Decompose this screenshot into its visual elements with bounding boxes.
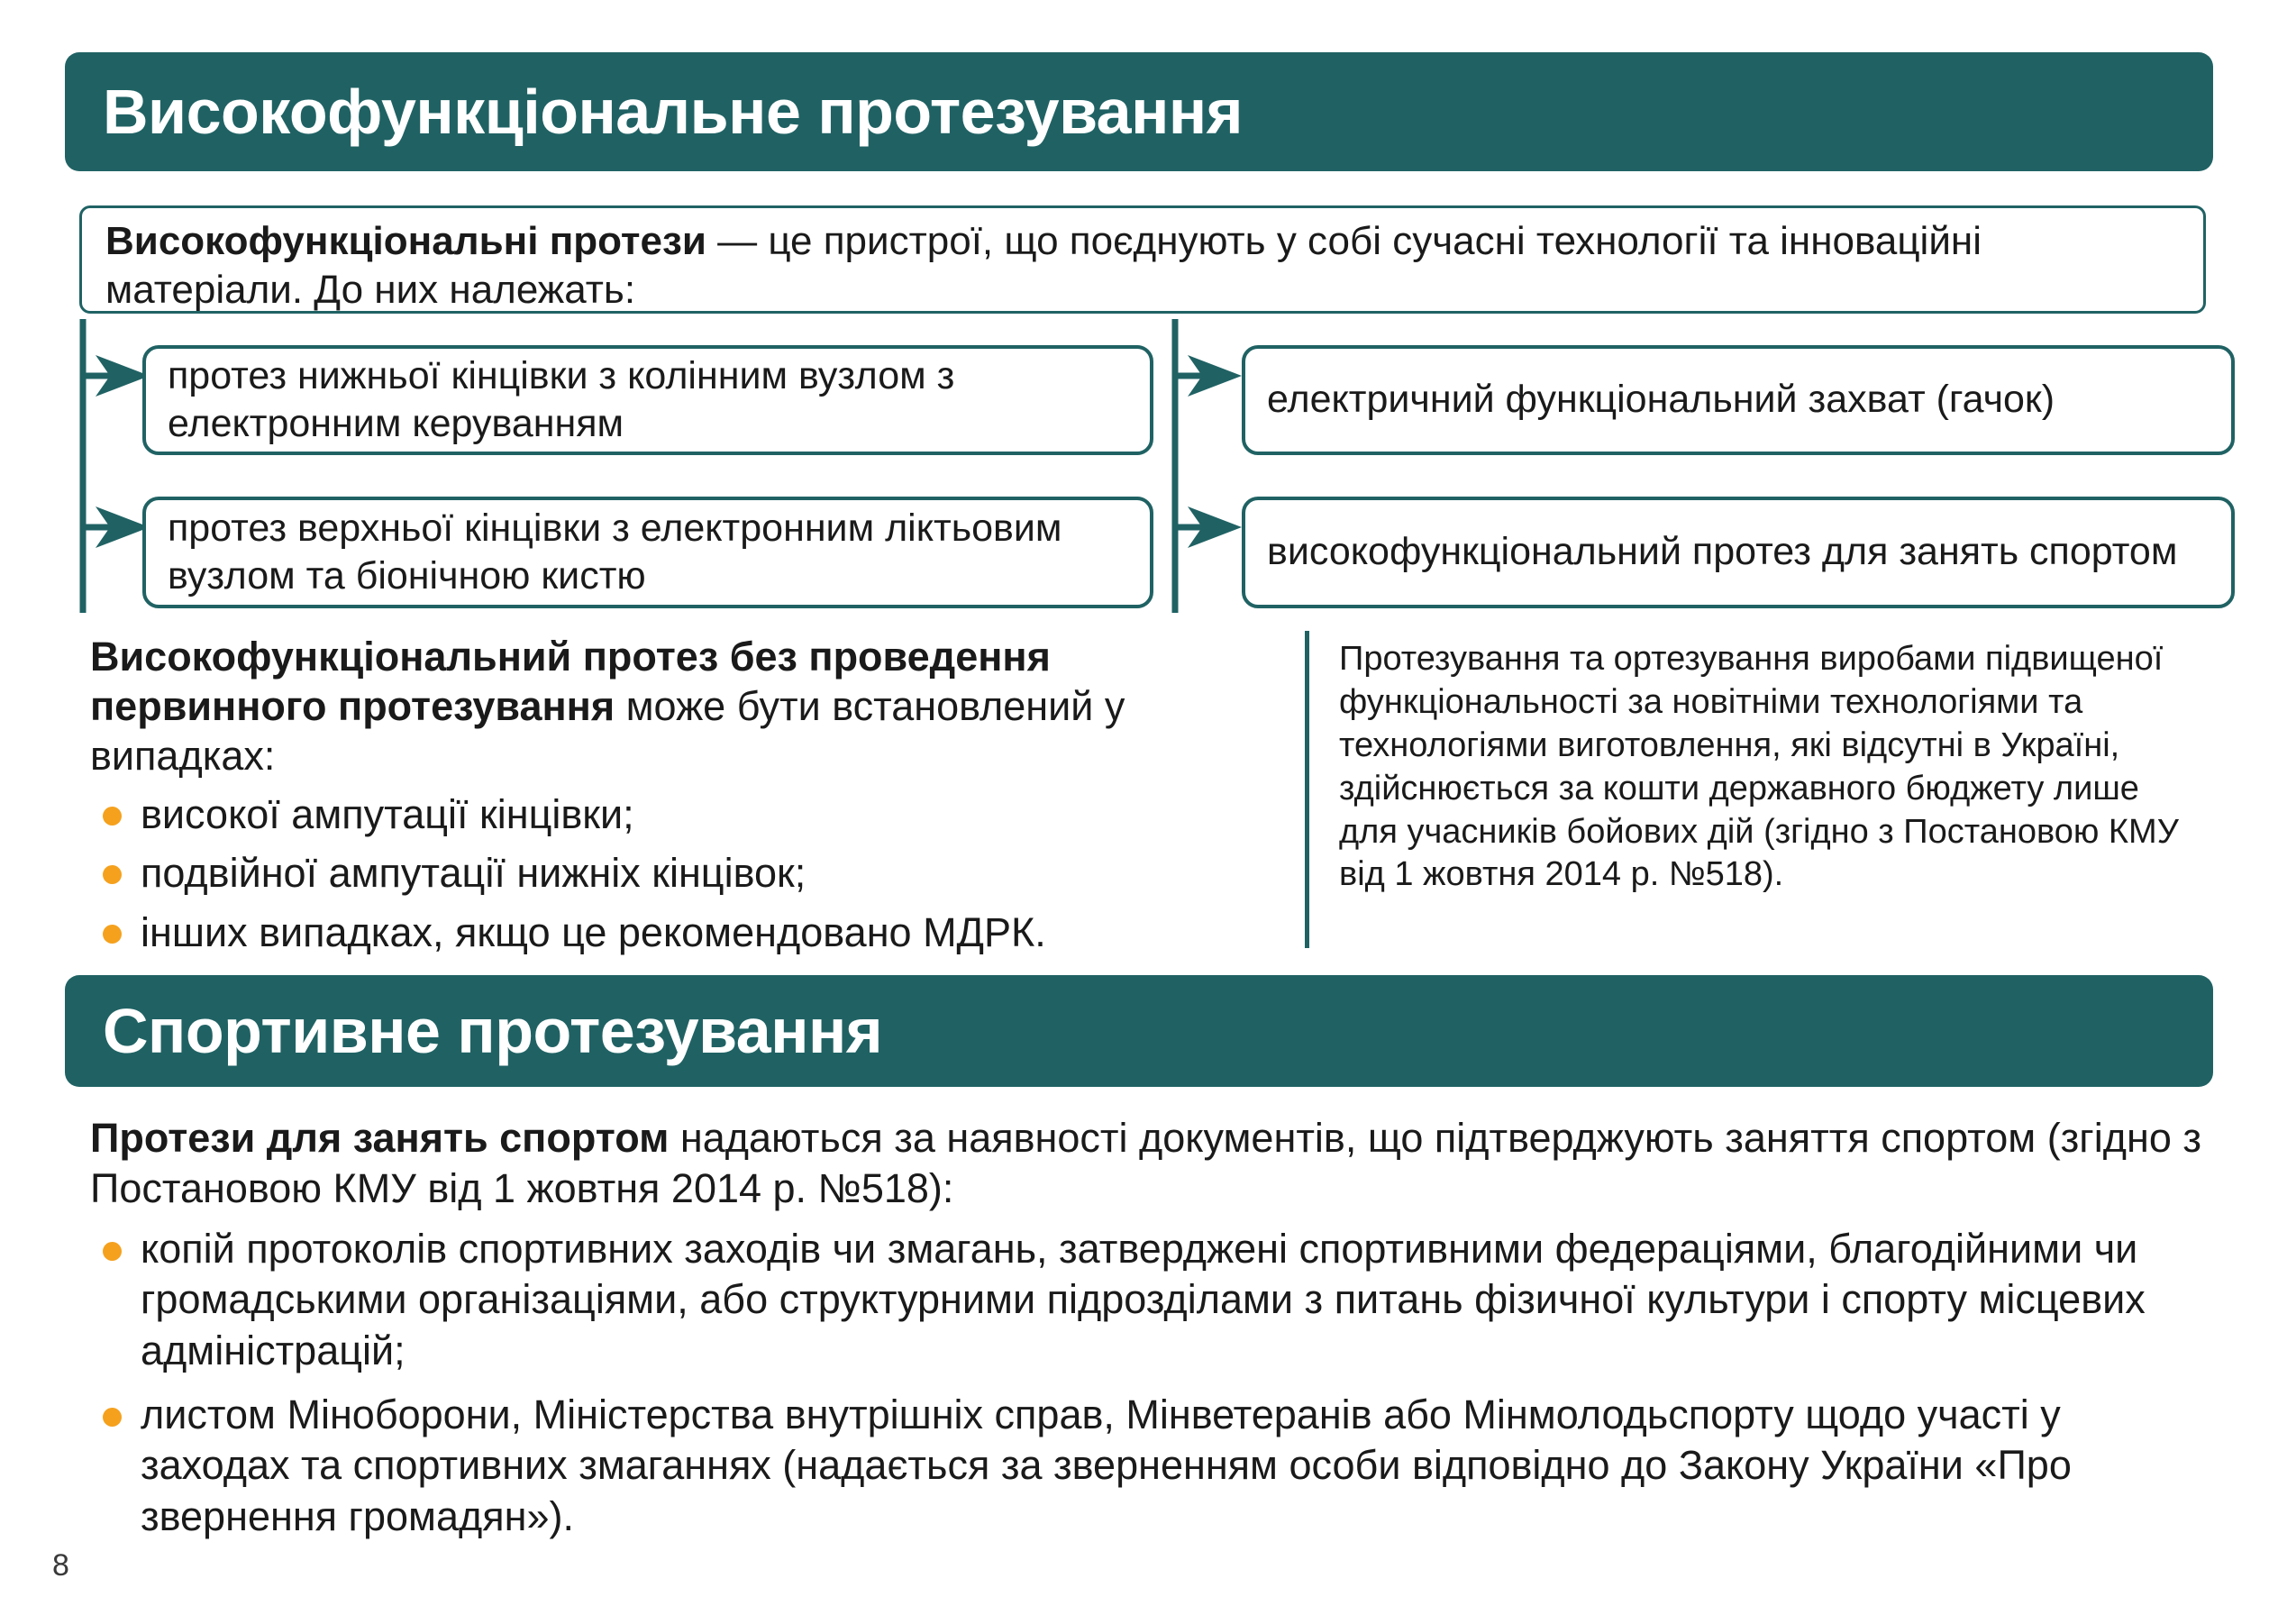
funding-note-column: Протезування та ортезування виробами під… — [1339, 638, 2204, 897]
sport-section-body: Протези для занять спортом надаються за … — [90, 1113, 2208, 1556]
column-divider — [1305, 631, 1309, 948]
section-banner-high-function: Високофункціональне протезування — [65, 52, 2213, 171]
flow-box-label: протез верхньої кінцівки з електронним л… — [168, 505, 1128, 601]
list-item: подвійної ампутації нижніх кінцівок; — [90, 847, 1271, 899]
sport-lead-bold: Протези для занять спортом — [90, 1115, 669, 1161]
list-item: копій протоколів спортивних заходів чи з… — [90, 1224, 2208, 1377]
list-item: високої ампутації кінцівки; — [90, 789, 1271, 841]
list-item: листом Міноборони, Міністерства внутрішн… — [90, 1390, 2208, 1543]
flow-box-label: електричний функціональний захват (гачок… — [1267, 376, 2055, 424]
document-page: Високофункціональне протезування Високоф… — [0, 0, 2278, 1624]
funding-note-text: Протезування та ортезування виробами під… — [1339, 638, 2204, 897]
flow-box-sport-prosthesis: високофункціональний протез для занять с… — [1242, 497, 2235, 608]
section-title: Високофункціональне протезування — [103, 80, 1243, 143]
page-number: 8 — [52, 1548, 69, 1583]
sport-lead-paragraph: Протези для занять спортом надаються за … — [90, 1113, 2208, 1215]
list-item: інших випадках, якщо це рекомендовано МД… — [90, 907, 1271, 959]
cases-lead-paragraph: Високофункціональний протез без проведен… — [90, 633, 1271, 781]
flow-connector-right — [1171, 317, 1253, 615]
flow-box-upper-limb-prosthesis: протез верхньої кінцівки з електронним л… — [142, 497, 1153, 608]
sport-bullet-list: копій протоколів спортивних заходів чи з… — [90, 1224, 2208, 1543]
cases-bullet-list: високої ампутації кінцівки; подвійної ам… — [90, 789, 1271, 959]
intro-definition-text: Високофункціональні протези — це пристро… — [105, 217, 2183, 314]
flow-box-label: високофункціональний протез для занять с… — [1267, 528, 2177, 576]
cases-column: Високофункціональний протез без проведен… — [90, 633, 1271, 965]
intro-bold-lead: Високофункціональні протези — [105, 219, 706, 263]
intro-definition-card: Високофункціональні протези — це пристро… — [79, 205, 2206, 314]
section-banner-sport: Спортивне протезування — [65, 975, 2213, 1087]
section-title: Спортивне протезування — [103, 999, 882, 1063]
flow-box-electric-hook: електричний функціональний захват (гачок… — [1242, 345, 2235, 455]
flow-box-label: протез нижньої кінцівки з колінним вузло… — [168, 352, 1128, 449]
flow-box-lower-limb-prosthesis: протез нижньої кінцівки з колінним вузло… — [142, 345, 1153, 455]
